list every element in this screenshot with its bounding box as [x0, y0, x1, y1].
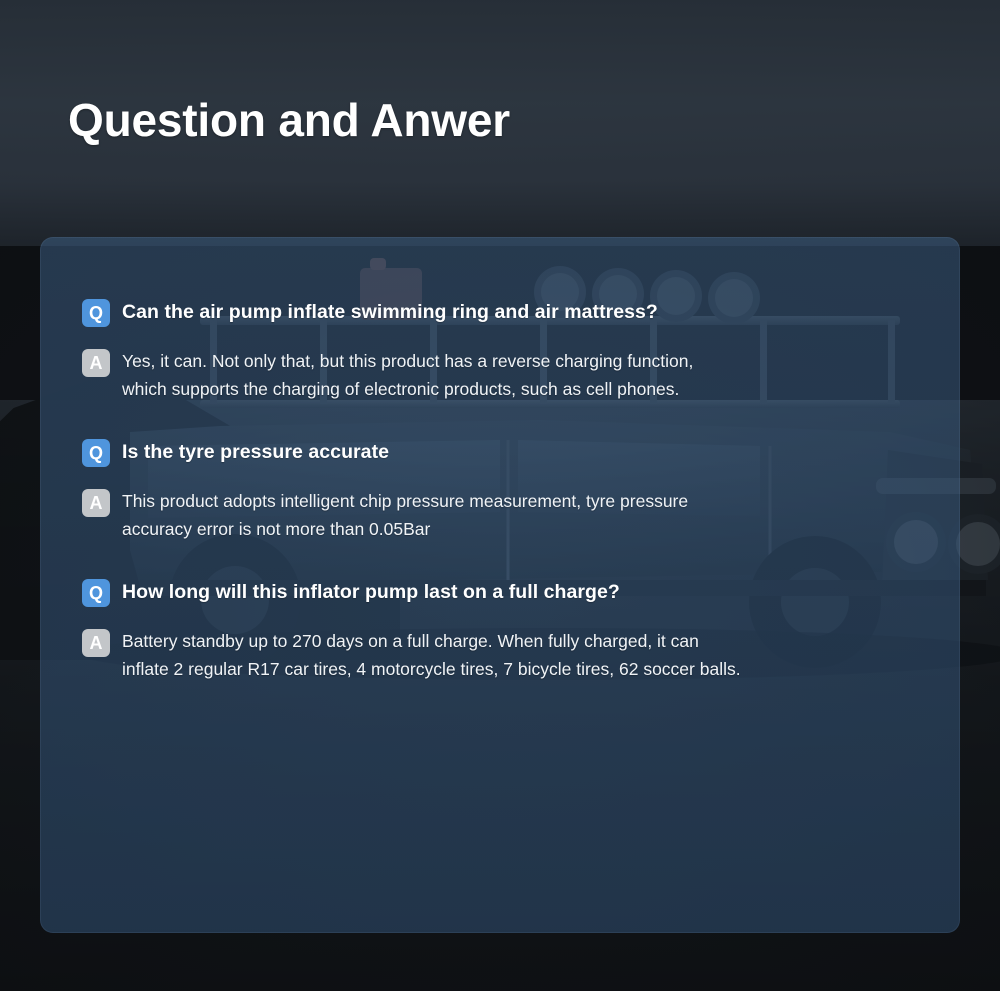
- faq-question-text: Is the tyre pressure accurate: [122, 437, 389, 467]
- faq-question-row: Q Is the tyre pressure accurate: [82, 437, 918, 467]
- faq-answer-text: Battery standby up to 270 days on a full…: [122, 627, 741, 683]
- faq-answer-row: A Battery standby up to 270 days on a fu…: [82, 627, 918, 683]
- faq-answer-text: This product adopts intelligent chip pre…: [122, 487, 688, 543]
- question-badge-icon: Q: [82, 299, 110, 327]
- faq-answer-row: A This product adopts intelligent chip p…: [82, 487, 918, 543]
- faq-item: Q Is the tyre pressure accurate A This p…: [82, 437, 918, 543]
- answer-badge-icon: A: [82, 489, 110, 517]
- faq-question-row: Q Can the air pump inflate swimming ring…: [82, 297, 918, 327]
- question-badge-icon: Q: [82, 439, 110, 467]
- answer-badge-icon: A: [82, 349, 110, 377]
- faq-answer-line: inflate 2 regular R17 car tires, 4 motor…: [122, 655, 741, 683]
- faq-list: Q Can the air pump inflate swimming ring…: [82, 297, 918, 683]
- faq-item: Q Can the air pump inflate swimming ring…: [82, 297, 918, 403]
- answer-badge-icon: A: [82, 629, 110, 657]
- faq-panel: Q Can the air pump inflate swimming ring…: [40, 237, 960, 933]
- faq-item: Q How long will this inflator pump last …: [82, 577, 918, 683]
- faq-answer-text: Yes, it can. Not only that, but this pro…: [122, 347, 693, 403]
- faq-answer-line: Yes, it can. Not only that, but this pro…: [122, 347, 693, 375]
- product-faq-banner: Question and Anwer Q Can the air pump in…: [0, 0, 1000, 991]
- faq-question-text: Can the air pump inflate swimming ring a…: [122, 297, 658, 327]
- page-title: Question and Anwer: [68, 88, 510, 152]
- faq-question-text: How long will this inflator pump last on…: [122, 577, 620, 607]
- faq-answer-row: A Yes, it can. Not only that, but this p…: [82, 347, 918, 403]
- faq-answer-line: This product adopts intelligent chip pre…: [122, 487, 688, 515]
- faq-answer-line: Battery standby up to 270 days on a full…: [122, 627, 741, 655]
- faq-answer-line: which supports the charging of electroni…: [122, 375, 693, 403]
- question-badge-icon: Q: [82, 579, 110, 607]
- faq-answer-line: accuracy error is not more than 0.05Bar: [122, 515, 688, 543]
- faq-question-row: Q How long will this inflator pump last …: [82, 577, 918, 607]
